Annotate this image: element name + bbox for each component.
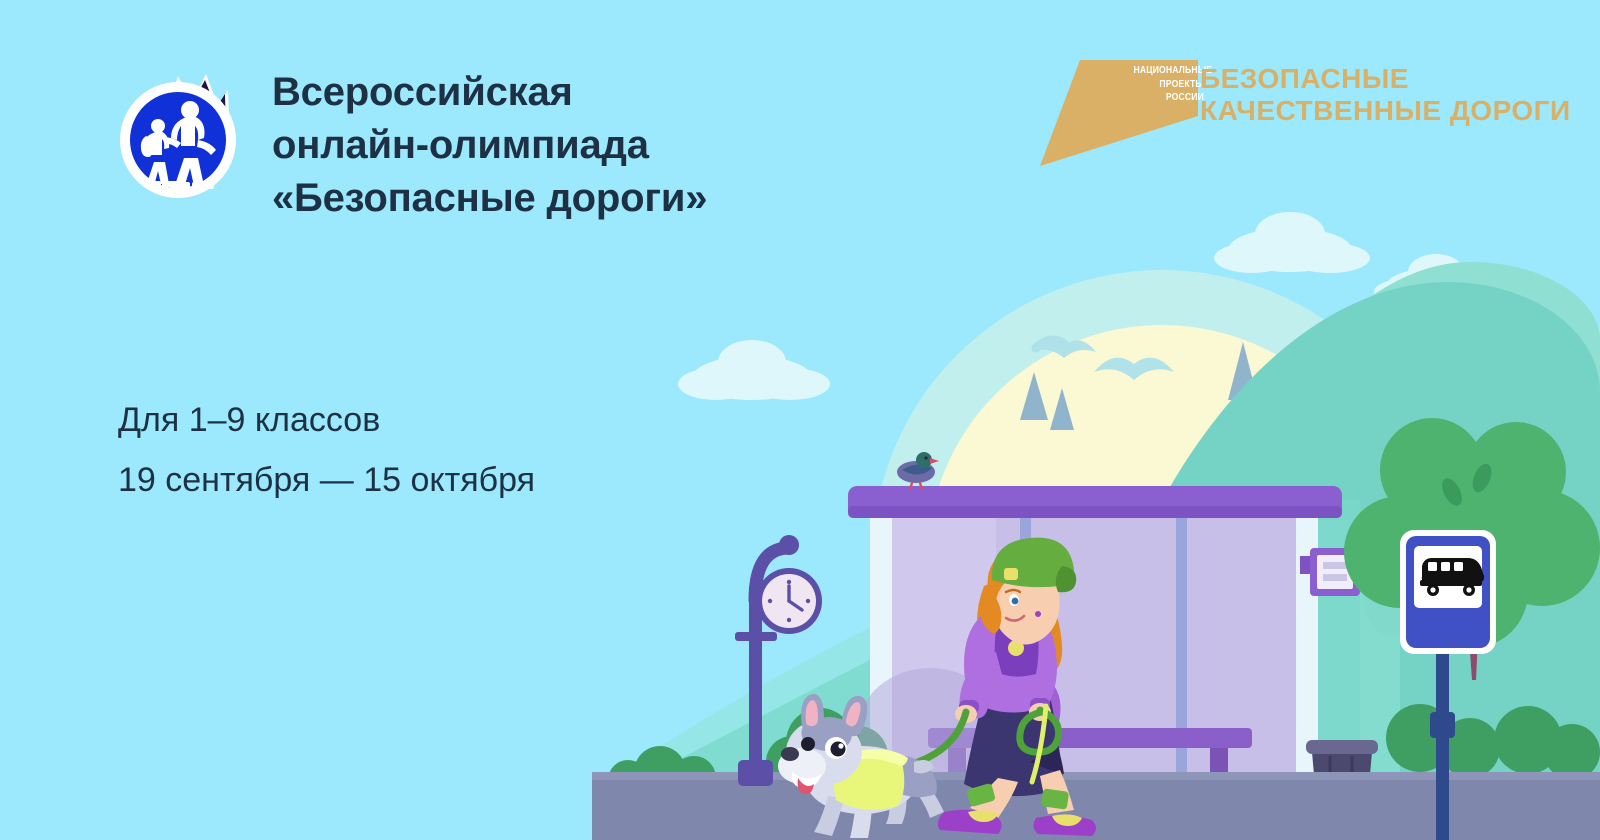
np-wedge-line-2: ПРОЕКТЫ [1133,78,1204,92]
promo-banner: Всероссийская онлайн-олимпиада «Безопасн… [0,0,1600,840]
np-wedge-line-3: РОССИИ [1133,91,1204,105]
national-projects-logo: НАЦИОНАЛЬНЫЕ ПРОЕКТЫ РОССИИ БЕЗОПАСНЫЕ К… [1038,58,1578,178]
program-line-2: КАЧЕСТВЕННЫЕ ДОРОГИ [1200,95,1571,127]
dates-text: 19 сентября — 15 октября [118,450,535,510]
pedestrian-crossing-sign-icon [118,62,246,202]
title-line-3: «Безопасные дороги» [272,172,707,225]
event-details: Для 1–9 классов 19 сентября — 15 октября [118,390,535,510]
national-projects-wedge-text: НАЦИОНАЛЬНЫЕ ПРОЕКТЫ РОССИИ [1133,64,1204,105]
shelter-roof-shadow [848,506,1342,518]
title-line-1: Всероссийская [272,66,707,119]
page-title: Всероссийская онлайн-олимпиада «Безопасн… [272,62,707,225]
grades-text: Для 1–9 классов [118,390,535,450]
title-line-2: онлайн-олимпиада [272,119,707,172]
np-wedge-line-1: НАЦИОНАЛЬНЫЕ [1133,64,1204,78]
brand-lockup: Всероссийская онлайн-олимпиада «Безопасн… [118,62,707,225]
program-line-1: БЕЗОПАСНЫЕ [1200,63,1571,95]
program-name: БЕЗОПАСНЫЕ КАЧЕСТВЕННЫЕ ДОРОГИ [1200,63,1571,127]
